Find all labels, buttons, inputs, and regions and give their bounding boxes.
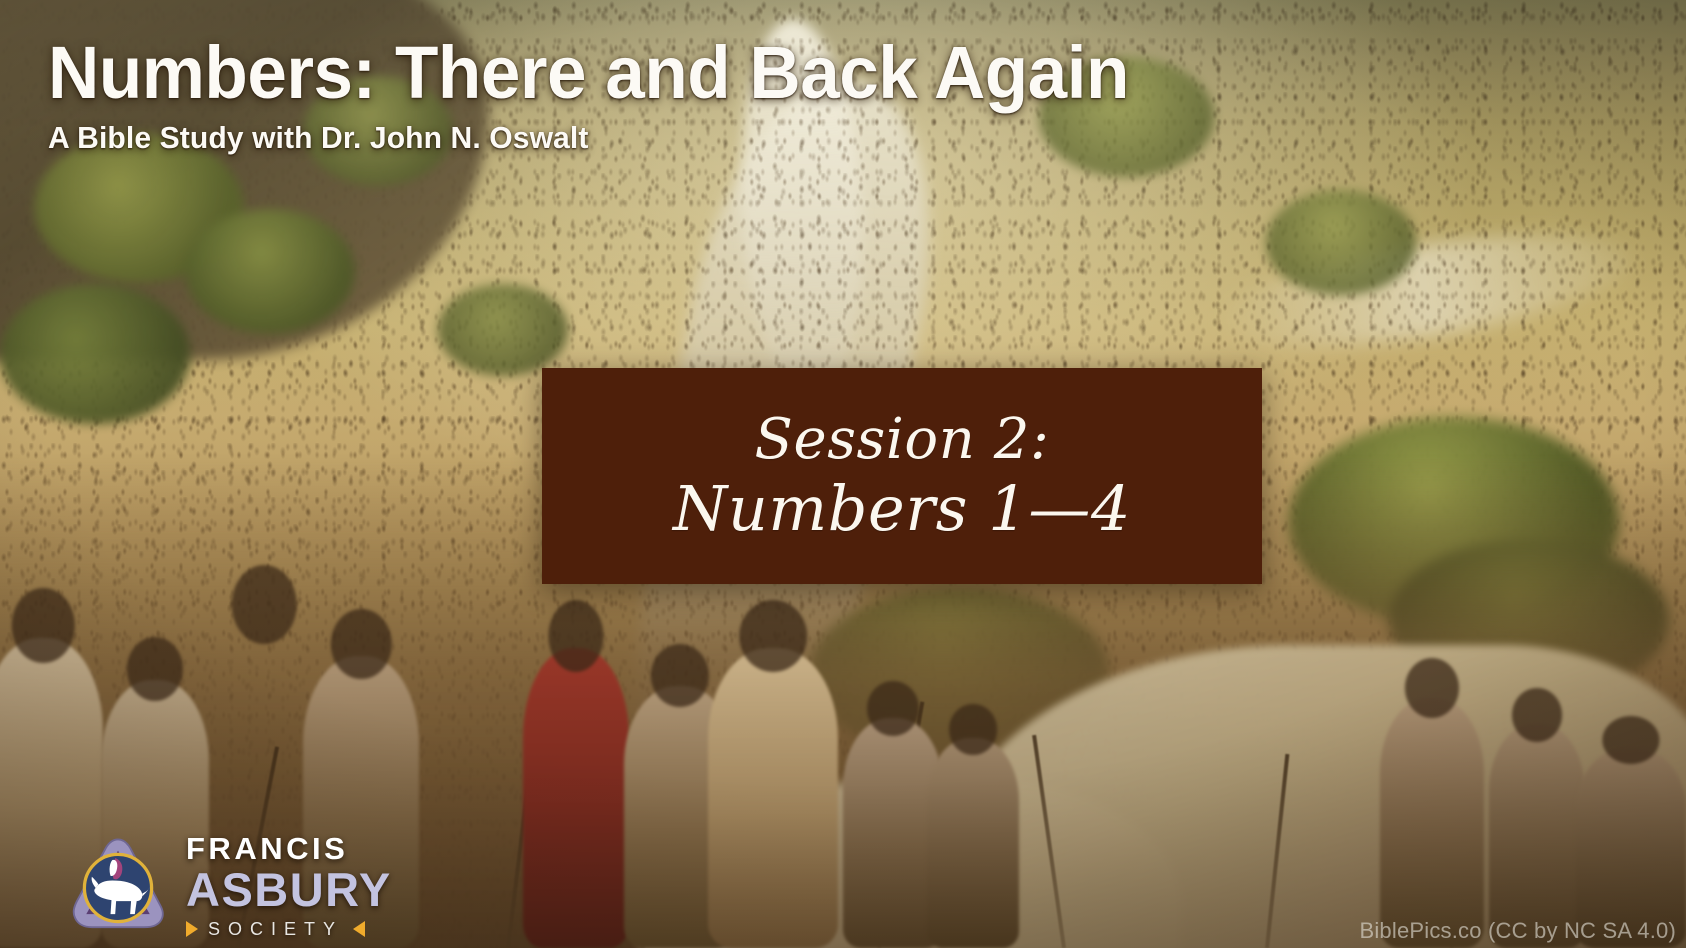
procession-figure bbox=[1489, 724, 1585, 948]
logo-society-row: SOCIETY bbox=[186, 920, 392, 938]
procession-figure bbox=[927, 738, 1019, 948]
arrow-left-icon bbox=[353, 921, 365, 937]
logo-line-society: SOCIETY bbox=[208, 920, 343, 938]
francis-asbury-society-logo[interactable]: FRANCIS ASBURY SOCIETY bbox=[62, 832, 392, 944]
tree-cluster bbox=[438, 284, 568, 376]
title-block: Numbers: There and Back Again A Bible St… bbox=[48, 38, 1174, 156]
session-scripture-range: Numbers 1—4 bbox=[673, 474, 1131, 543]
session-panel: Session 2: Numbers 1—4 bbox=[542, 368, 1262, 584]
image-attribution: BiblePics.co (CC by NC SA 4.0) bbox=[1359, 918, 1676, 944]
asbury-emblem-icon bbox=[62, 832, 174, 944]
procession-figure bbox=[708, 648, 838, 948]
logo-line-francis: FRANCIS bbox=[186, 833, 392, 864]
procession-figure-red bbox=[523, 648, 629, 948]
logo-line-asbury: ASBURY bbox=[186, 866, 392, 913]
tree-cluster bbox=[185, 209, 355, 334]
procession-figure bbox=[1380, 698, 1484, 948]
page-title: Numbers: There and Back Again bbox=[48, 38, 1129, 108]
logo-wordmark: FRANCIS ASBURY SOCIETY bbox=[186, 833, 392, 944]
arrow-right-icon bbox=[186, 921, 198, 937]
session-number: Session 2: bbox=[755, 409, 1050, 472]
page-subtitle: A Bible Study with Dr. John N. Oswalt bbox=[48, 120, 1140, 156]
tree-cluster bbox=[0, 284, 190, 424]
tree-cluster bbox=[1266, 190, 1416, 295]
title-slide: Numbers: There and Back Again A Bible St… bbox=[0, 0, 1686, 948]
